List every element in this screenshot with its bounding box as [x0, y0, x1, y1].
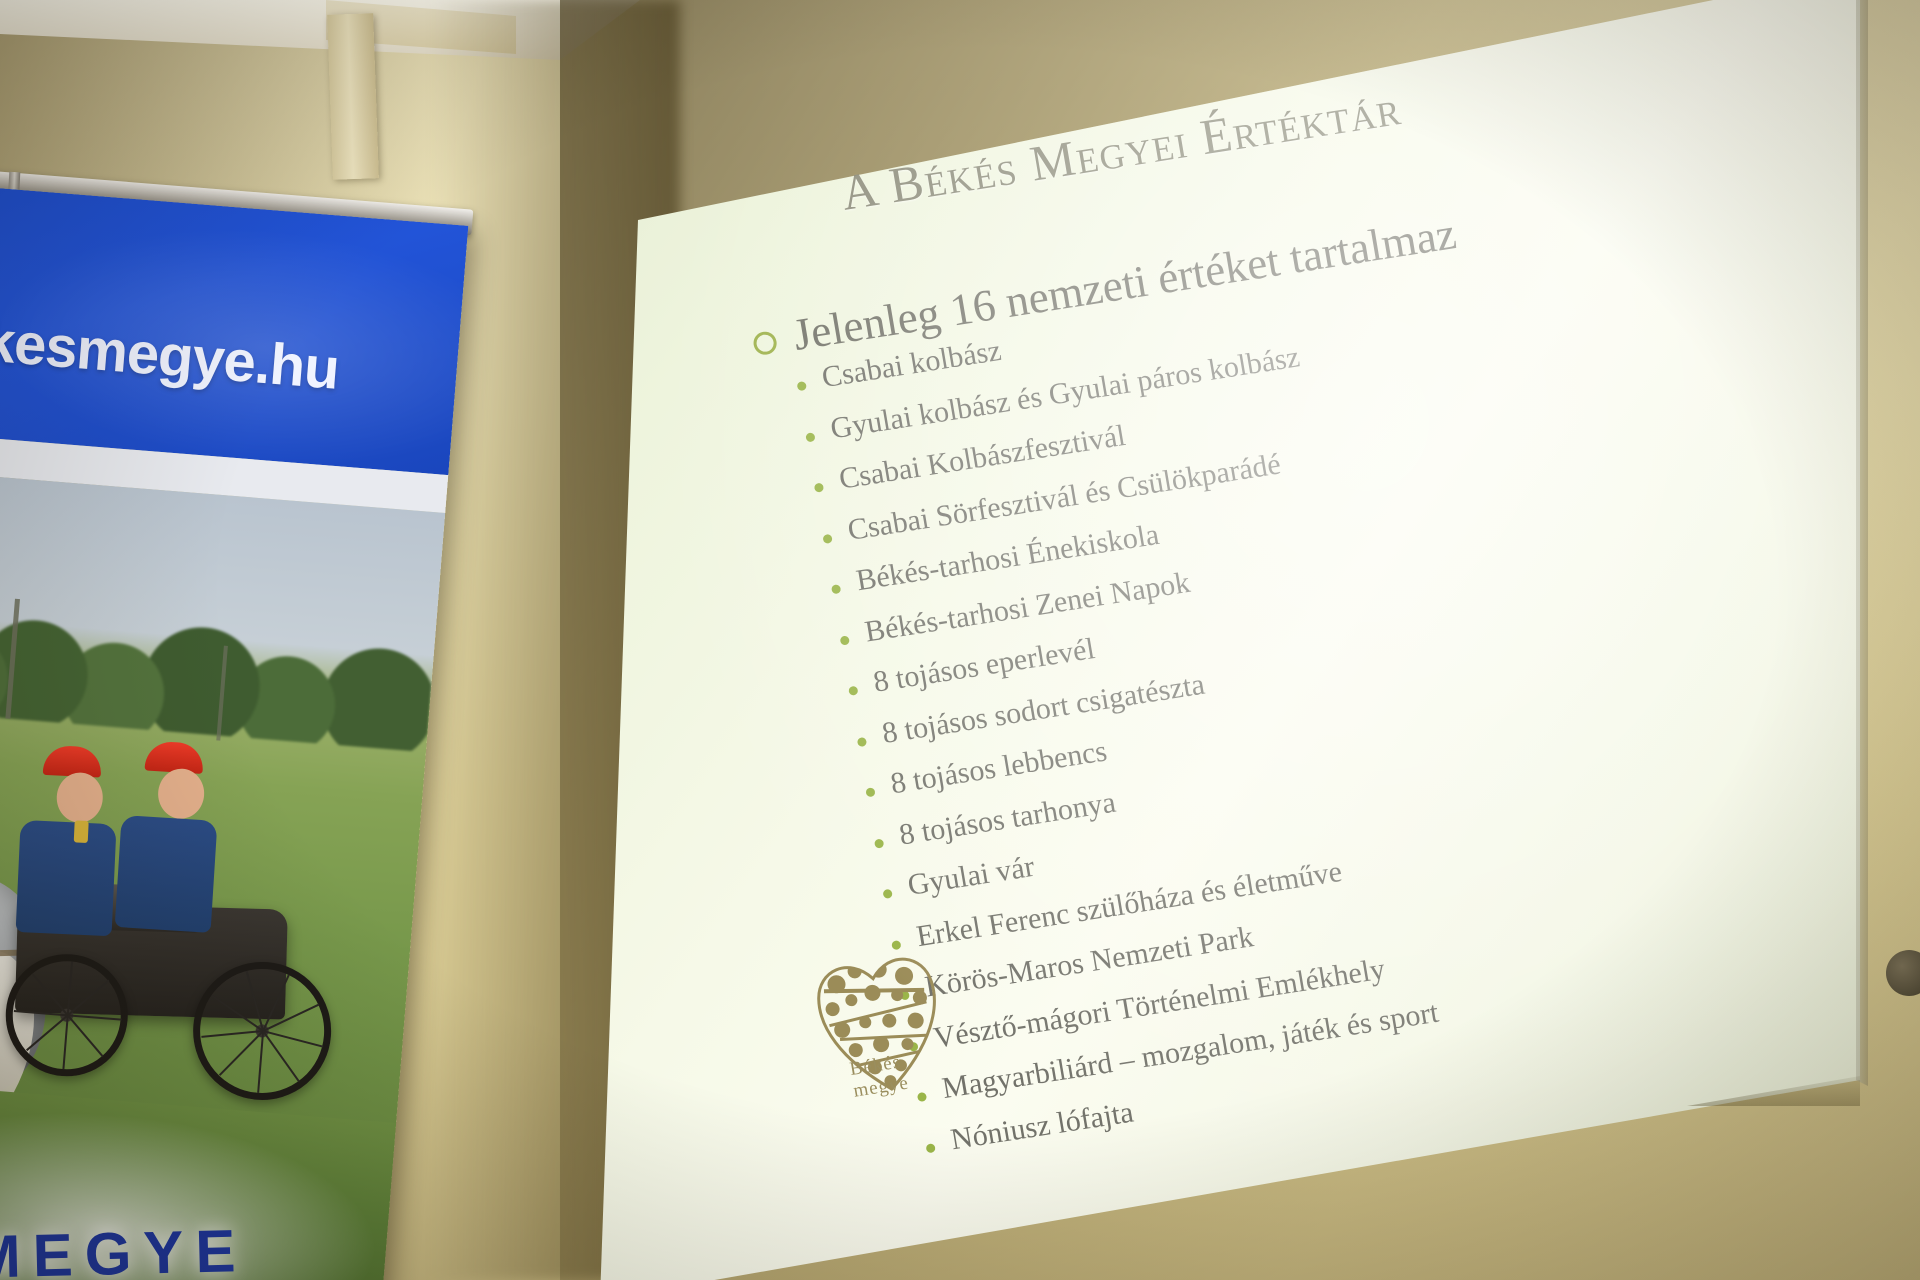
banner-url-text: bekesmegye.hu: [0, 302, 468, 414]
photo-driver: [36, 745, 120, 936]
photo-driver-head: [157, 767, 206, 820]
dot-bullet-icon: [857, 736, 867, 746]
ornamental-heart-logo-icon: Békés megye: [802, 935, 957, 1103]
list-item-label: Gyulai vár: [906, 852, 1037, 901]
dot-bullet-icon: [797, 381, 807, 391]
national-values-list: Csabai kolbász Gyulai kolbász és Gyulai …: [794, 192, 1920, 1159]
list-item-label: 8 tojásos tarhonya: [897, 787, 1118, 850]
dot-bullet-icon: [874, 838, 884, 848]
photo-driver-torso: [115, 815, 218, 933]
photo-driver-medal: [74, 820, 89, 843]
dot-bullet-icon: [848, 686, 858, 696]
dot-bullet-icon: [814, 483, 824, 493]
dot-bullet-icon: [840, 635, 850, 645]
wall-conduit-box: [327, 13, 379, 180]
projection-screen-area: A Békés Megyei Értéktár Jelenleg 16 nemz…: [560, 0, 1920, 1280]
presentation-slide: A Békés Megyei Értéktár Jelenleg 16 nemz…: [620, 0, 1920, 1134]
dot-bullet-icon: [925, 1143, 935, 1153]
dot-bullet-icon: [805, 432, 815, 442]
photo-driver-head: [56, 772, 104, 824]
banner-wordmark: MEGYE: [0, 1216, 248, 1280]
photo-driver: [135, 740, 223, 932]
dot-bullet-icon: [882, 889, 892, 899]
list-item-label: 8 tojásos lebbencs: [888, 736, 1109, 799]
photo-driver-torso: [16, 820, 117, 936]
screenshot-stage: A Békés Megyei Értéktár Jelenleg 16 nemz…: [0, 0, 1920, 1280]
hollow-circle-bullet-icon: [752, 330, 779, 356]
dot-bullet-icon: [822, 533, 832, 543]
banner-photograph: MEGYE: [0, 472, 445, 1280]
banner-blue-band: bekesmegye.hu: [0, 185, 468, 475]
dot-bullet-icon: [917, 1092, 927, 1102]
dot-bullet-icon: [831, 584, 841, 594]
dot-bullet-icon: [865, 787, 875, 797]
